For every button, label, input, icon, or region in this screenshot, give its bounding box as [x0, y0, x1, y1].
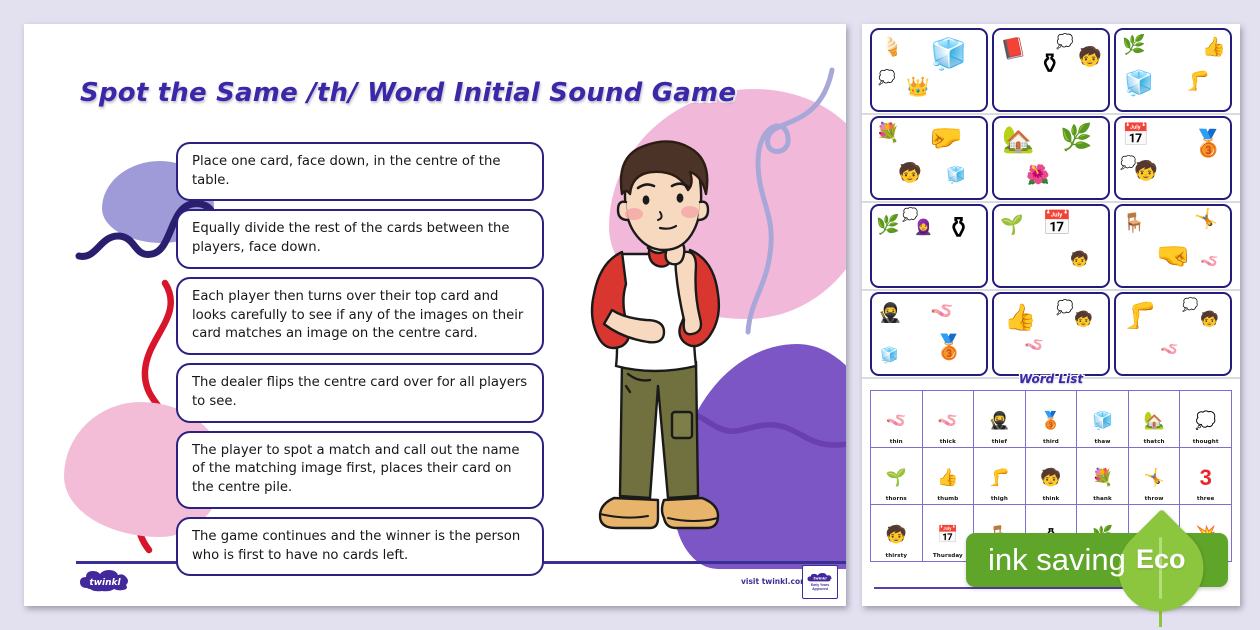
page-title: Spot the Same /th/ Word Initial Sound Ga…	[80, 78, 760, 108]
svg-text:twinkl: twinkl	[89, 578, 121, 588]
thought-girl-icon: 🧕	[914, 220, 933, 235]
instruction-step: The game continues and the winner is the…	[176, 517, 544, 576]
word-cell[interactable]: 🌱thorns	[871, 448, 923, 505]
badge-twinkl-icon: twinkl	[807, 573, 833, 583]
word-label: thorns	[871, 496, 922, 502]
thank-flowers-icon: 💐	[1077, 460, 1128, 496]
thief-icon: 🥷	[878, 304, 902, 323]
right-page: 🍦 🧊 👑 💭 📕 ⚱ 🧒 💭 🌿 👍 🧊 🦵	[862, 24, 1240, 606]
game-card[interactable]: 💐 🤛 🧒 🧊	[870, 116, 988, 200]
thaw-lolly-icon: 🍦	[877, 35, 906, 61]
word-cell[interactable]: 🥷thief	[974, 391, 1026, 448]
three-number-icon: 3	[1180, 460, 1231, 496]
svg-text:twinkl: twinkl	[813, 576, 827, 581]
word-cell[interactable]: 🧒thirsty	[871, 505, 923, 562]
word-label: thick	[923, 439, 974, 445]
thought-girl-icon: 🧒	[1074, 312, 1093, 327]
ink-saving-label: ink saving	[988, 542, 1126, 578]
think-girl-icon: 🧒	[1070, 252, 1089, 267]
word-label: thief	[974, 439, 1025, 445]
thursday-calendar-icon: 📅	[1042, 212, 1072, 236]
throw-skater-icon: 🤸	[1129, 460, 1180, 496]
word-label: thumb	[923, 496, 974, 502]
visit-twinkl-link[interactable]: visit twinkl.com	[741, 577, 808, 586]
card-row: 🥷 🪱 🥉 🧊 👍 🧒 💭 🪱 🦵 🧒 💭 🪱	[870, 292, 1232, 376]
word-label: thatch	[1129, 439, 1180, 445]
thank-flowers-icon: 💐	[876, 124, 900, 143]
word-label: throw	[1129, 496, 1180, 502]
thought-bubble-icon: 💭	[1056, 34, 1073, 48]
thick-worm-icon: 🪱	[1160, 342, 1179, 357]
word-cell[interactable]: 🏡thatch	[1128, 391, 1180, 448]
word-list-title: Word List	[870, 372, 1232, 386]
ice-cube-icon: 🧊	[930, 40, 967, 70]
game-cards-sheet: 🍦 🧊 👑 💭 📕 ⚱ 🧒 💭 🌿 👍 🧊 🦵	[870, 28, 1232, 380]
thistle-icon: 🌿	[876, 216, 900, 235]
think-girl-icon: 🧒	[1134, 162, 1158, 181]
thumb-icon: 🤜	[1156, 242, 1191, 270]
thaw-icon: 🧊	[880, 348, 899, 363]
word-cell[interactable]: 🥉third	[1025, 391, 1077, 448]
ink-saving-eco-badge: ink saving Eco	[966, 533, 1228, 591]
game-card[interactable]: 🌱 📅 🧒	[992, 204, 1110, 288]
card-row: 🌿 🧕 ⚱ 💭 🌱 📅 🧒 🪑 🤸 🤜 🪱	[870, 204, 1232, 288]
thin-worm-icon: 🪱	[1024, 338, 1044, 354]
instruction-step: Equally divide the rest of the cards bet…	[176, 209, 544, 268]
instruction-step: Each player then turns over their top ca…	[176, 277, 544, 355]
card-row: 🍦 🧊 👑 💭 📕 ⚱ 🧒 💭 🌿 👍 🧊 🦵	[870, 28, 1232, 112]
thaw-icon: 🧊	[946, 168, 966, 184]
thursday-calendar-icon: 📅	[1122, 124, 1149, 146]
thumb-hand-icon: 🤛	[928, 124, 963, 152]
thigh-icon: 🦵	[974, 460, 1025, 496]
word-label: thank	[1077, 496, 1128, 502]
instruction-step: The player to spot a match and call out …	[176, 431, 544, 509]
word-list-row: 🌱thorns 👍thumb 🦵thigh 🧒think 💐thank 🤸thr…	[871, 448, 1232, 505]
game-card[interactable]: 🪑 🤸 🤜 🪱	[1114, 204, 1232, 288]
thin-worm-icon: 🪱	[1200, 254, 1219, 269]
thistle-icon: 🌿	[1060, 124, 1092, 150]
word-label: thought	[1180, 439, 1231, 445]
third-medal-icon: 🥉	[934, 336, 964, 360]
thought-bubble-icon: 💭	[902, 208, 918, 221]
thick-worm-icon: 🪱	[923, 403, 974, 439]
throw-skater-icon: 🤸	[1194, 210, 1218, 229]
word-cell[interactable]: 3three	[1180, 448, 1232, 505]
word-cell[interactable]: 🪱thick	[922, 391, 974, 448]
thorns-crown-icon: 👑	[906, 78, 930, 97]
eco-label: Eco	[1136, 544, 1186, 575]
word-label: thaw	[1077, 439, 1128, 445]
word-cell[interactable]: 💐thank	[1077, 448, 1129, 505]
word-label: thirsty	[871, 553, 922, 559]
thief-icon: 🥷	[974, 403, 1025, 439]
game-card[interactable]: 👍 🧒 💭 🪱	[992, 292, 1110, 376]
thought-girl-icon: 🧒	[1078, 48, 1102, 67]
ice-cube-icon: 🧊	[1124, 72, 1154, 96]
word-cell[interactable]: 👍thumb	[922, 448, 974, 505]
thought-bubble-icon: 💭	[878, 70, 895, 84]
think-girl-icon: 🧒	[1200, 312, 1219, 327]
thirsty-girl-icon: 🧒	[871, 517, 922, 553]
game-card[interactable]: 📕 ⚱ 🧒 💭	[992, 28, 1110, 112]
thin-worm-icon: 🪱	[871, 403, 922, 439]
third-medal-icon: 🥉	[1192, 130, 1224, 156]
third-medal-icon: 🥉	[1026, 403, 1077, 439]
left-page: Spot the Same /th/ Word Initial Sound Ga…	[24, 24, 846, 606]
game-card[interactable]: 🦵 🧒 💭 🪱	[1114, 292, 1232, 376]
thin-worm-icon: 🪱	[930, 302, 954, 321]
thought-bubble-icon: 💭	[1056, 300, 1073, 314]
ice-cube-icon: 🧊	[1077, 403, 1128, 439]
game-card[interactable]: 🥷 🪱 🥉 🧊	[870, 292, 988, 376]
card-row: 💐 🤛 🧒 🧊 🏡 🌿 🌺 📅 🥉 🧒 💭	[870, 116, 1232, 200]
word-label: three	[1180, 496, 1231, 502]
instructions-list: Place one card, face down, in the centre…	[176, 142, 544, 584]
instruction-step: Place one card, face down, in the centre…	[176, 142, 544, 201]
word-label: third	[1026, 439, 1077, 445]
game-card[interactable]: 🍦 🧊 👑 💭	[870, 28, 988, 112]
game-card[interactable]: 📅 🥉 🧒 💭	[1114, 116, 1232, 200]
thorns-branch-icon: 🌱	[1000, 216, 1024, 235]
thinking-boy-illustration	[564, 124, 774, 559]
word-cell[interactable]: 🧒think	[1025, 448, 1077, 505]
word-list-row: 🪱thin 🪱thick 🥷thief 🥉third 🧊thaw 🏡thatch…	[871, 391, 1232, 448]
badge-line-2: Approved	[812, 587, 828, 591]
approved-badge: twinkl Early Years Approved	[802, 565, 838, 599]
word-cell[interactable]: 🧊thaw	[1077, 391, 1129, 448]
thumb-icon: 👍	[1004, 304, 1036, 330]
screenshot-root: Spot the Same /th/ Word Initial Sound Ga…	[0, 0, 1260, 630]
word-cell[interactable]: 🦵thigh	[974, 448, 1026, 505]
thought-girl-icon: 💭	[1180, 403, 1231, 439]
thatch-cottage-icon: 🏡	[1129, 403, 1180, 439]
word-cell[interactable]: 🤸throw	[1128, 448, 1180, 505]
think-girl-icon: 🧒	[1026, 460, 1077, 496]
word-cell[interactable]: 💭thought	[1180, 391, 1232, 448]
thumb-icon: 👍	[1202, 38, 1226, 57]
thimble-icon: ⚱	[1038, 50, 1061, 78]
thimble-icon: ⚱	[946, 214, 971, 244]
game-card[interactable]: 🏡 🌿 🌺	[992, 116, 1110, 200]
thistle-icon: 🌿	[1122, 36, 1146, 55]
word-label: thin	[871, 439, 922, 445]
throne-chair-icon: 🪑	[1122, 214, 1146, 233]
word-cell[interactable]: 🪱thin	[871, 391, 923, 448]
thought-bubble-icon: 💭	[1182, 298, 1198, 311]
word-label: thigh	[974, 496, 1025, 502]
thought-bubble-icon: 💭	[1120, 156, 1136, 169]
thorns-branch-icon: 🌱	[871, 460, 922, 496]
thigh-icon: 🦵	[1186, 72, 1210, 91]
thirsty-girl-icon: 🧒	[898, 164, 922, 183]
game-card[interactable]: 🌿 🧕 ⚱ 💭	[870, 204, 988, 288]
thatch-cottage-icon: 🏡	[1002, 126, 1034, 152]
twinkl-logo-icon[interactable]: twinkl	[79, 570, 131, 594]
word-label: think	[1026, 496, 1077, 502]
game-card[interactable]: 🌿 👍 🧊 🦵	[1114, 28, 1232, 112]
thorns-icon: 🌺	[1026, 166, 1050, 185]
instruction-step: The dealer flips the centre card over fo…	[176, 363, 544, 422]
thumb-hand-icon: 👍	[923, 460, 974, 496]
book-icon: 📕	[1000, 38, 1027, 62]
thigh-icon: 🦵	[1124, 302, 1156, 328]
